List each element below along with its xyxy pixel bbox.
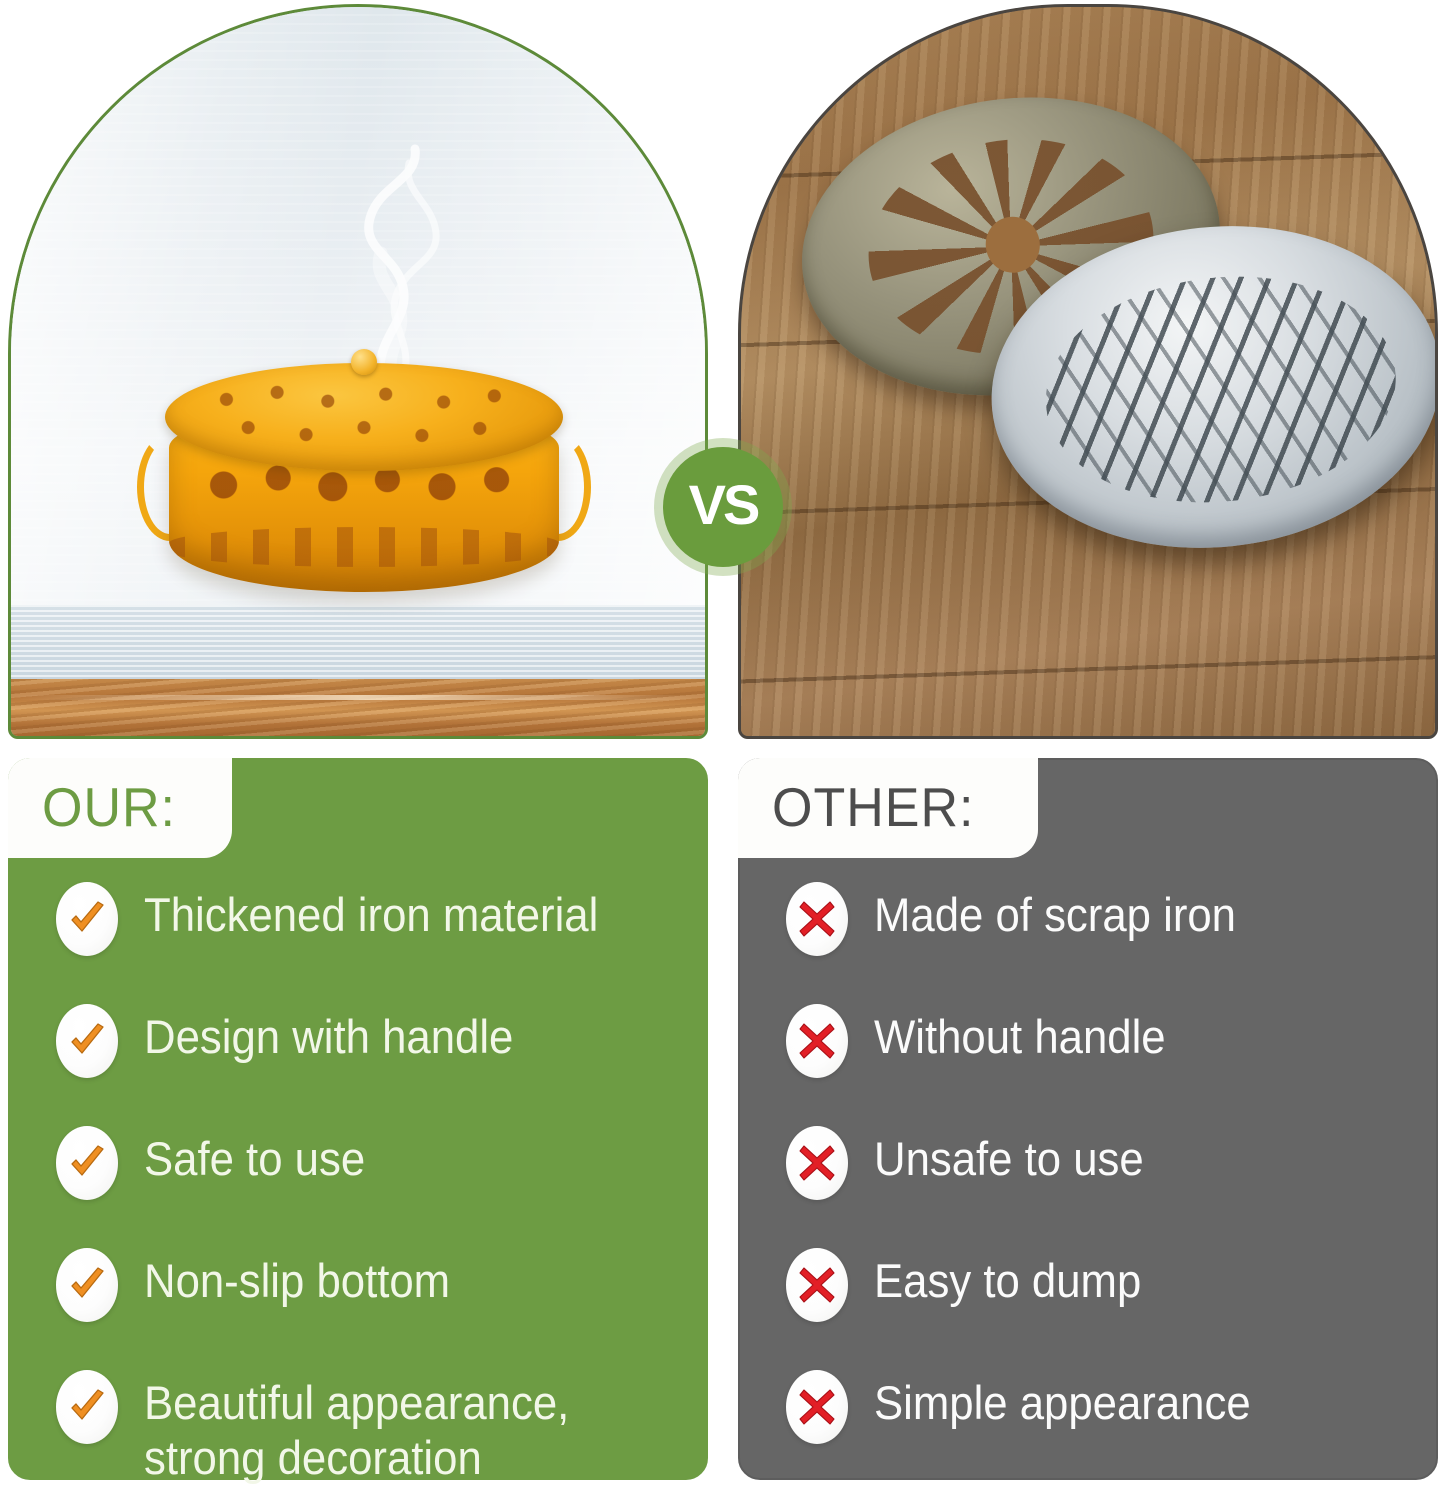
vs-label: VS (689, 477, 758, 533)
our-heading-label: OUR: (42, 776, 176, 840)
smoke-wisp-icon (311, 127, 491, 387)
our-product-image (8, 4, 708, 739)
list-item-label: Safe to use (144, 1122, 365, 1187)
holder-knob (351, 349, 377, 375)
check-icon (56, 1126, 118, 1200)
other-heading-tag: OTHER: (738, 758, 1038, 858)
list-item-label: Thickened iron material (144, 878, 598, 943)
other-product-photo (741, 7, 1435, 736)
list-item: Easy to dump (786, 1244, 1410, 1356)
list-item: Beautiful appearance, strong decoration (56, 1366, 680, 1485)
comparison-infographic: VS OUR: Thickened iron material (0, 0, 1445, 1489)
cross-icon (786, 1126, 848, 1200)
list-item: Unsafe to use (786, 1122, 1410, 1234)
cross-icon (786, 1370, 848, 1444)
our-heading-tag: OUR: (8, 758, 232, 858)
other-product-image (738, 4, 1438, 739)
list-item: Without handle (786, 1000, 1410, 1112)
other-features-panel: OTHER: Made of scrap iron Without handle (738, 758, 1438, 1480)
cross-icon (786, 882, 848, 956)
list-item: Made of scrap iron (786, 878, 1410, 990)
other-heading-label: OTHER: (772, 776, 974, 840)
wooden-table-edge (11, 679, 705, 736)
list-item-label: Easy to dump (874, 1244, 1141, 1309)
list-item-label: Unsafe to use (874, 1122, 1144, 1187)
list-item: Thickened iron material (56, 878, 680, 990)
holder-lid (165, 363, 563, 471)
our-product-photo (11, 7, 705, 736)
list-item: Design with handle (56, 1000, 680, 1112)
list-item-label: Without handle (874, 1000, 1166, 1065)
yellow-coil-holder (159, 355, 569, 620)
our-feature-list: Thickened iron material Design with hand… (10, 878, 706, 1485)
list-item: Simple appearance (786, 1366, 1410, 1478)
list-item-label: Made of scrap iron (874, 878, 1236, 943)
base-spikes (1035, 260, 1407, 519)
list-item-label: Beautiful appearance, strong decoration (144, 1366, 569, 1485)
list-item-label: Simple appearance (874, 1366, 1251, 1431)
list-item: Safe to use (56, 1122, 680, 1234)
check-icon (56, 1370, 118, 1444)
vs-circle: VS (663, 447, 783, 567)
cross-icon (786, 1248, 848, 1322)
our-features-panel: OUR: Thickened iron material Design with… (8, 758, 708, 1480)
list-item-label: Design with handle (144, 1000, 513, 1065)
cross-icon (786, 1004, 848, 1078)
other-feature-list: Made of scrap iron Without handle Unsafe… (740, 878, 1436, 1478)
vs-badge: VS (654, 438, 792, 576)
check-icon (56, 1248, 118, 1322)
check-icon (56, 1004, 118, 1078)
list-item-label: Non-slip bottom (144, 1244, 450, 1309)
list-item: Non-slip bottom (56, 1244, 680, 1356)
check-icon (56, 882, 118, 956)
